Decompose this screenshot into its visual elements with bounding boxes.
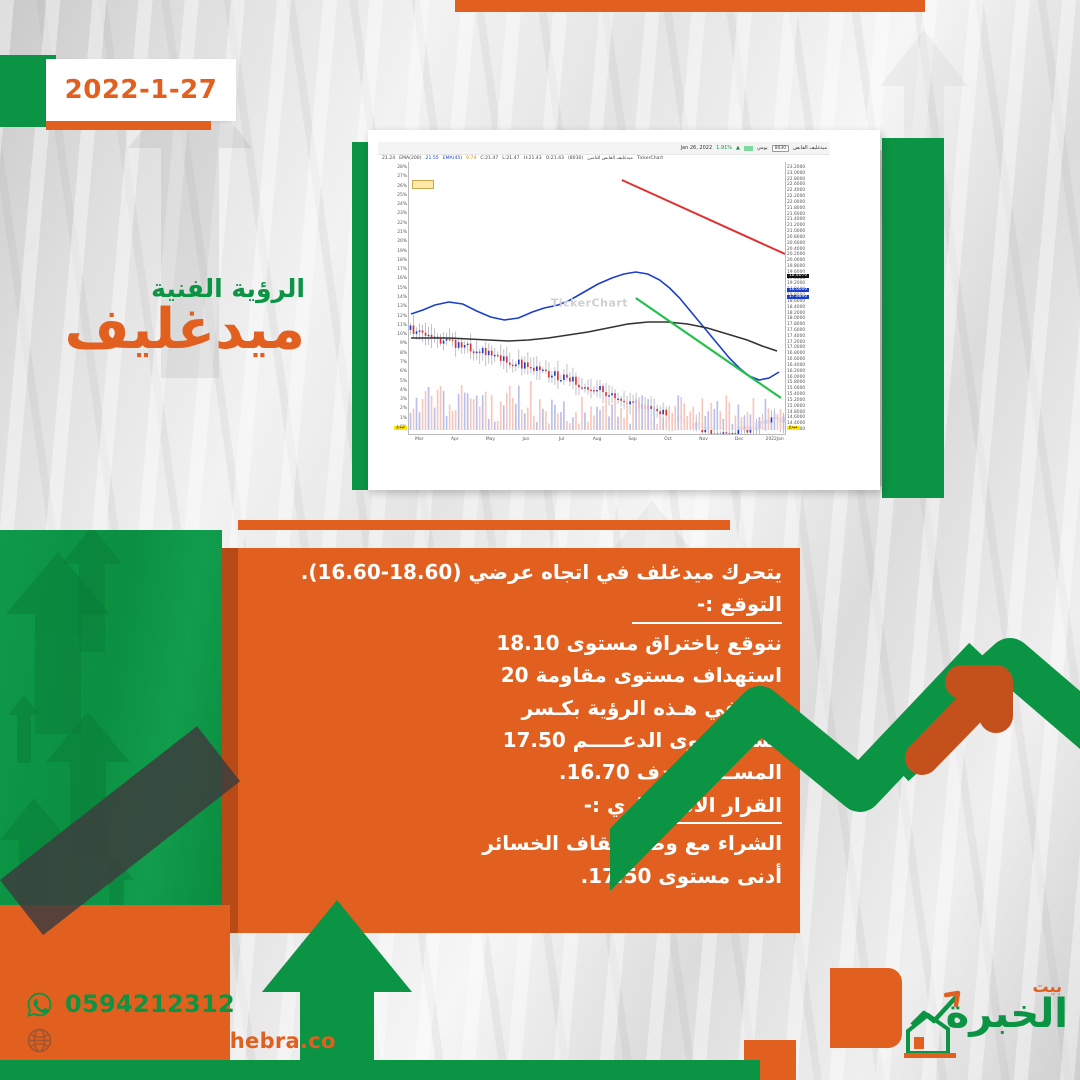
bottom-green-bar xyxy=(0,1060,760,1080)
x-axis: MarAprMayJunJulAugSepOctNovDec2022Jan xyxy=(408,434,786,444)
date-badge: 2022-1-27 xyxy=(46,59,236,121)
brand-logo: بيت الخبرة xyxy=(898,975,1070,1067)
legend-change: 0.74 xyxy=(466,156,476,161)
chart-ohlc-legend: TickerChart ميدغليف القابض للتأمين (8030… xyxy=(378,155,830,162)
y-tick-right: 20.8000 xyxy=(787,236,805,240)
logo-orange-backdrop xyxy=(830,968,902,1048)
y-tick-left: 19% xyxy=(397,250,407,254)
contact-website-row[interactable]: www.bayt-alkhebra.co xyxy=(26,1027,336,1054)
y-tick-left: 11% xyxy=(397,324,407,328)
x-tick: Sep xyxy=(628,437,636,442)
y-tick-right: 23.0000 xyxy=(787,172,805,176)
y-tick-left: 9% xyxy=(400,342,407,346)
y-tick-right: 17.4000 xyxy=(787,335,805,339)
y-tick-right: 22.0000 xyxy=(787,201,805,205)
legend-ema2-value: 21.24 xyxy=(382,156,395,161)
y-tick-right: 19.8000 xyxy=(787,265,805,269)
arrow-up-icon xyxy=(62,530,122,652)
y-tick-left: 16% xyxy=(397,277,407,281)
chart-header: ميدغليف القابض 8030 يومي ▲ 1.91% Jan 26,… xyxy=(378,142,830,155)
y-tick-right: 22.2000 xyxy=(787,195,805,199)
y-tick-left: 28% xyxy=(397,166,407,170)
y-tick-left: 24% xyxy=(397,203,407,207)
chart-change-swatch xyxy=(744,146,753,151)
legend-close: C:21.47 xyxy=(480,156,498,161)
corner-tick-left: ميدغ xyxy=(394,426,407,430)
headline-block: الرؤية الفنية ميدغليف xyxy=(0,275,305,359)
x-tick: Apr xyxy=(451,437,459,442)
y-tick-left: 1% xyxy=(400,417,407,421)
legend-low: L:21.47 xyxy=(502,156,519,161)
headline-title: ميدغليف xyxy=(0,301,305,360)
y-tick-right: 21.8000 xyxy=(787,207,805,211)
y-tick-highlight: 18.0000 xyxy=(787,288,809,292)
up-triangle-icon: ▲ xyxy=(736,145,740,151)
stock-chart[interactable]: ميدغليف القابض 8030 يومي ▲ 1.91% Jan 26,… xyxy=(378,142,830,480)
y-tick-right: 17.8000 xyxy=(787,323,805,327)
y-tick-left: 6% xyxy=(400,370,407,374)
y-axis-left: 28%27%26%25%24%23%22%21%20%19%18%17%16%1… xyxy=(379,162,409,434)
x-tick: Oct xyxy=(664,437,672,442)
y-tick-left: 5% xyxy=(400,380,407,384)
x-tick: Nov xyxy=(699,437,708,442)
y-tick-left: 7% xyxy=(400,361,407,365)
y-tick-left: 12% xyxy=(397,315,407,319)
chart-interval: يومي xyxy=(757,145,768,151)
chart-symbol-name: ميدغليف القابض xyxy=(793,145,827,151)
globe-icon xyxy=(26,1027,53,1054)
y-tick-right: 15.0000 xyxy=(787,405,805,409)
phone-number: 0594212312 xyxy=(65,990,235,1018)
chart-date: Jan 26, 2022 xyxy=(681,145,713,151)
y-tick-left: 4% xyxy=(400,389,407,393)
y-tick-left: 3% xyxy=(400,398,407,402)
legend-code: (8030) xyxy=(568,156,583,161)
date-underline xyxy=(46,121,211,130)
legend-name: ميدغليف القابض للتأمين xyxy=(587,156,633,161)
legend-ema1-value: 21.55 xyxy=(426,156,439,161)
chart-symbol-code: 8030 xyxy=(772,145,789,152)
panel-top-accent xyxy=(238,520,730,530)
whatsapp-icon xyxy=(26,991,53,1018)
y-tick-right: 15.2000 xyxy=(787,399,805,403)
logo-word-khebra: الخبرة xyxy=(946,995,1068,1033)
y-tick-right: 20.0000 xyxy=(787,259,805,263)
y-tick-right: 17.6000 xyxy=(787,329,805,333)
growth-zigzag-arrow-icon xyxy=(610,600,1080,960)
x-tick: Mar xyxy=(415,437,423,442)
legend-ema1-label: EMA(45) xyxy=(443,156,462,161)
y-tick-right: 16.4000 xyxy=(787,364,805,368)
top-accent-bar xyxy=(455,0,925,12)
y-tick-highlight: 17.8890 xyxy=(787,295,809,299)
corner-tick-right: ميدغ xyxy=(787,426,800,430)
legend-open: O:21.43 xyxy=(546,156,564,161)
x-tick: 2022Jan xyxy=(766,437,784,442)
chart-plot-area: 28%27%26%25%24%23%22%21%20%19%18%17%16%1… xyxy=(408,162,786,434)
y-tick-left: 25% xyxy=(397,194,407,198)
chart-change-percent: 1.91% xyxy=(716,145,732,151)
y-tick-left: 10% xyxy=(397,333,407,337)
x-tick: Jul xyxy=(559,437,564,442)
contact-phone-row[interactable]: 0594212312 xyxy=(26,990,336,1018)
y-tick-left: 17% xyxy=(397,268,407,272)
y-tick-right: 16.6000 xyxy=(787,358,805,362)
y-tick-left: 23% xyxy=(397,212,407,216)
website-url: www.bayt-alkhebra.co xyxy=(65,1029,336,1053)
x-tick: Dec xyxy=(735,437,744,442)
y-axis-right: 23.200023.000022.800022.600022.400022.20… xyxy=(785,162,829,434)
y-tick-right: 21.0000 xyxy=(787,230,805,234)
y-tick-right: 15.6000 xyxy=(787,387,805,391)
y-tick-right: 18.6000 xyxy=(787,300,805,304)
x-tick: Aug xyxy=(593,437,602,442)
y-tick-left: 8% xyxy=(400,352,407,356)
y-tick-left: 13% xyxy=(397,305,407,309)
y-tick-left: 21% xyxy=(397,231,407,235)
y-tick-left: 27% xyxy=(397,175,407,179)
legend-series: TickerChart xyxy=(637,156,663,161)
footer-contact: 0594212312 www.bayt-alkhebra.co xyxy=(26,990,336,1054)
y-tick-left: 2% xyxy=(400,407,407,411)
chart-right-green-block xyxy=(882,138,944,498)
date-text: 2022-1-27 xyxy=(65,75,218,105)
y-tick-right: 16.2000 xyxy=(787,370,805,374)
y-tick-left: 26% xyxy=(397,185,407,189)
legend-ema2-label: EMA(200) xyxy=(399,156,421,161)
legend-high: H:21.43 xyxy=(524,156,542,161)
y-tick-right: 18.4000 xyxy=(787,306,805,310)
arrow-up-icon xyxy=(8,695,40,763)
y-tick-right: 21.2000 xyxy=(787,224,805,228)
y-tick-left: 20% xyxy=(397,240,407,244)
y-tick-right: 23.2000 xyxy=(787,166,805,170)
x-tick: May xyxy=(486,437,495,442)
y-tick-left: 18% xyxy=(397,259,407,263)
analysis-line: يتحرك ميدغلف في اتجاه عرضي (18.60-16.60)… xyxy=(256,556,782,588)
y-tick-right: 20.6000 xyxy=(787,242,805,246)
y-tick-left: 15% xyxy=(397,287,407,291)
logo-text: بيت الخبرة xyxy=(946,979,1068,1033)
y-tick-left: 22% xyxy=(397,222,407,226)
y-tick-right: 15.4000 xyxy=(787,393,805,397)
x-tick: Jun xyxy=(522,437,529,442)
y-tick-left: 14% xyxy=(397,296,407,300)
candlestick-plot: TickerChart xyxy=(409,162,785,434)
y-tick-highlight: 18.4070 xyxy=(787,274,809,278)
